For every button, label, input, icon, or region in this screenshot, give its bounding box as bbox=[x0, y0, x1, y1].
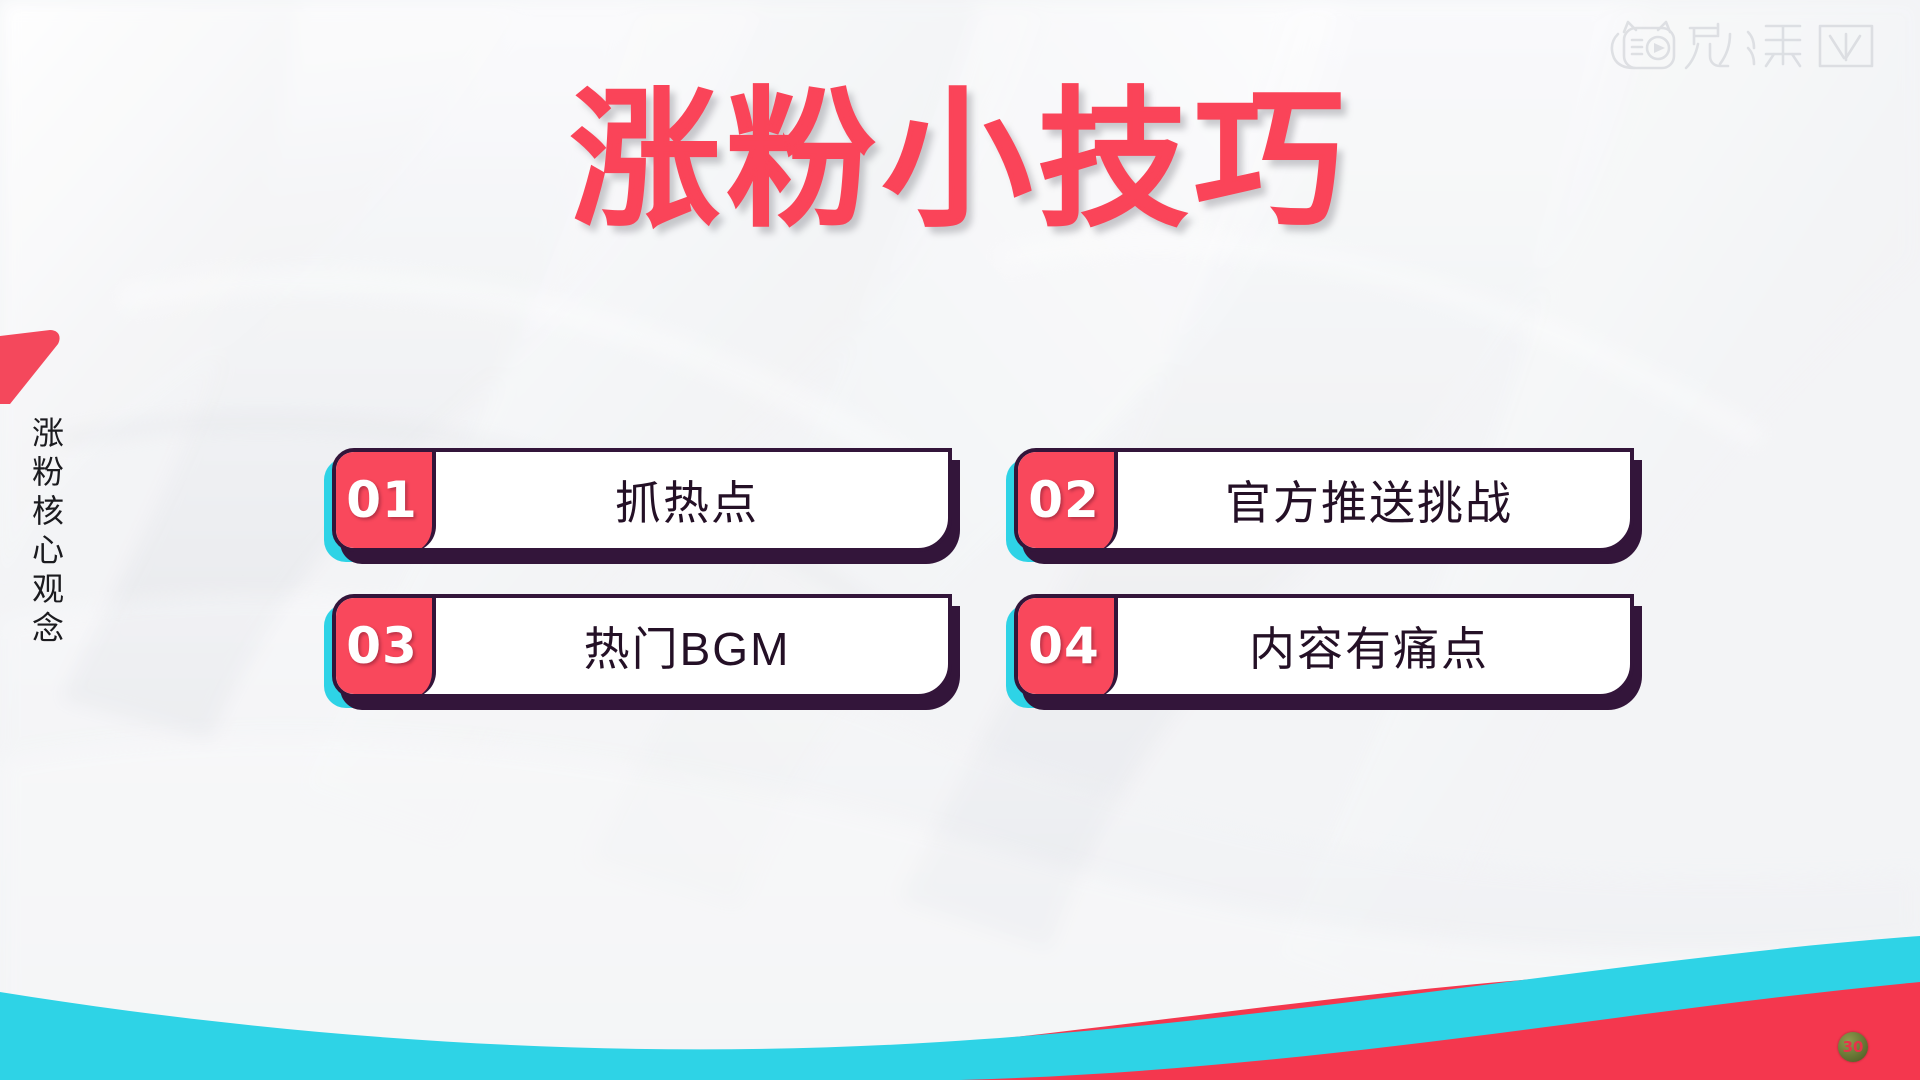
card-01[interactable]: 01 抓热点 bbox=[332, 448, 952, 552]
card-number-badge: 02 bbox=[1014, 448, 1118, 552]
card-body[interactable]: 04 内容有痛点 bbox=[1014, 594, 1634, 698]
card-04[interactable]: 04 内容有痛点 bbox=[1014, 594, 1634, 698]
card-label: 官方推送挑战 bbox=[1118, 452, 1630, 548]
cards-grid: 01 抓热点 02 官方推送挑战 03 热门BGM bbox=[332, 448, 1632, 698]
card-body[interactable]: 02 官方推送挑战 bbox=[1014, 448, 1634, 552]
card-number: 03 bbox=[346, 621, 418, 671]
card-03[interactable]: 03 热门BGM bbox=[332, 594, 952, 698]
card-label: 内容有痛点 bbox=[1118, 598, 1630, 694]
card-number: 02 bbox=[1028, 475, 1100, 525]
page-number-badge: 30 bbox=[1838, 1032, 1868, 1062]
card-label: 热门BGM bbox=[436, 598, 948, 694]
bottom-wave-decoration bbox=[0, 930, 1920, 1080]
card-body[interactable]: 01 抓热点 bbox=[332, 448, 952, 552]
card-number-badge: 03 bbox=[332, 594, 436, 698]
card-number: 01 bbox=[346, 475, 418, 525]
card-number-badge: 01 bbox=[332, 448, 436, 552]
card-number: 04 bbox=[1028, 621, 1100, 671]
page-number: 30 bbox=[1838, 1032, 1868, 1062]
card-body[interactable]: 03 热门BGM bbox=[332, 594, 952, 698]
card-02[interactable]: 02 官方推送挑战 bbox=[1014, 448, 1634, 552]
card-label: 抓热点 bbox=[436, 452, 948, 548]
card-number-badge: 04 bbox=[1014, 594, 1118, 698]
page-title: 涨粉小技巧 bbox=[0, 82, 1920, 240]
side-tab: 涨粉核心观念 bbox=[0, 330, 62, 710]
side-tab-label: 涨粉核心观念 bbox=[0, 416, 62, 650]
side-tab-shape bbox=[0, 330, 62, 404]
slide-canvas: 涨粉核心观念 涨粉小技巧 01 抓热点 02 官方推送挑战 bbox=[0, 0, 1920, 1080]
